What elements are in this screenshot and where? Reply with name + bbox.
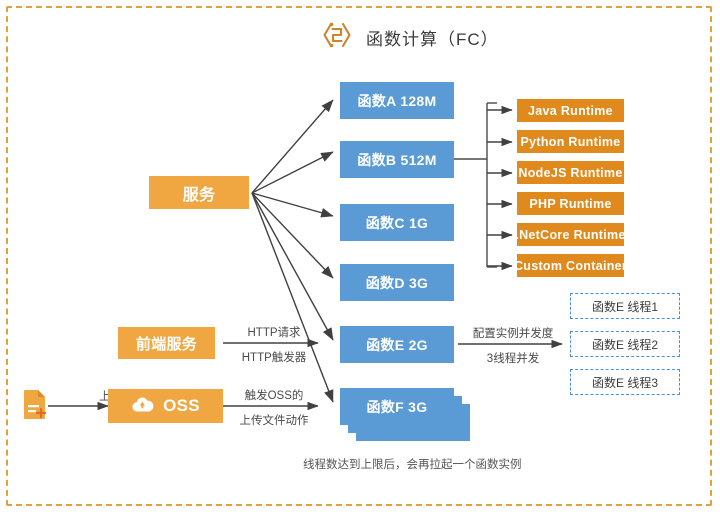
runtime-label: Java Runtime	[528, 104, 613, 118]
function-label: 函数C 1G	[366, 213, 428, 233]
thread-box[interactable]: 函数E 线程1	[570, 293, 680, 319]
http-request-label: HTTP请求	[233, 324, 315, 340]
thread-box[interactable]: 函数E 线程3	[570, 369, 680, 395]
runtime-box[interactable]: PHP Runtime	[517, 192, 624, 215]
title-label: 函数计算（FC）	[366, 25, 499, 50]
runtime-label: .NetCore Runtime	[515, 228, 625, 242]
service-label: 服务	[183, 181, 216, 205]
diagram-canvas: 函数计算（FC）	[0, 0, 720, 514]
diagram-title: 函数计算（FC）	[320, 18, 499, 57]
concurrency-top-label: 配置实例并发度	[465, 325, 561, 341]
http-trigger-label: HTTP触发器	[231, 349, 317, 365]
oss-trigger-top-label: 触发OSS的	[235, 387, 313, 403]
runtime-box[interactable]: .NetCore Runtime	[517, 223, 624, 246]
function-box[interactable]: 函数D 3G	[340, 264, 454, 301]
thread-label: 函数E 线程2	[592, 336, 658, 353]
fc-logo-icon	[320, 18, 354, 57]
runtime-box[interactable]: Custom Container	[517, 254, 624, 277]
cloud-icon	[131, 396, 155, 417]
oss-label: OSS	[163, 396, 200, 416]
runtime-box[interactable]: Python Runtime	[517, 130, 624, 153]
frontend-service-node[interactable]: 前端服务	[118, 327, 215, 359]
concurrency-bottom-label: 3线程并发	[465, 350, 561, 366]
oss-trigger-bottom-label: 上传文件动作	[231, 412, 317, 428]
function-label: 函数E 2G	[366, 335, 428, 355]
runtime-label: PHP Runtime	[529, 197, 611, 211]
runtime-box[interactable]: Java Runtime	[517, 99, 624, 122]
function-box[interactable]: 函数F 3G	[340, 388, 454, 425]
function-label: 函数D 3G	[366, 273, 428, 293]
thread-label: 函数E 线程1	[592, 298, 658, 315]
thread-box[interactable]: 函数E 线程2	[570, 331, 680, 357]
function-box[interactable]: 函数C 1G	[340, 204, 454, 241]
oss-node[interactable]: OSS	[108, 389, 223, 423]
runtime-label: NodeJS Runtime	[518, 166, 622, 180]
thread-label: 函数E 线程3	[592, 374, 658, 391]
function-label: 函数A 128M	[358, 91, 437, 111]
function-box[interactable]: 函数B 512M	[340, 141, 454, 178]
runtime-label: Custom Container	[514, 259, 627, 273]
function-box[interactable]: 函数E 2G	[340, 326, 454, 363]
bottom-caption: 线程数达到上限后，会再拉起一个函数实例	[303, 456, 522, 472]
function-label: 函数B 512M	[357, 150, 436, 170]
frontend-service-label: 前端服务	[136, 333, 197, 354]
function-box[interactable]: 函数A 128M	[340, 82, 454, 119]
service-node[interactable]: 服务	[149, 176, 249, 209]
function-label: 函数F 3G	[367, 397, 428, 417]
runtime-label: Python Runtime	[520, 135, 620, 149]
file-upload-icon	[22, 388, 48, 425]
runtime-box[interactable]: NodeJS Runtime	[517, 161, 624, 184]
